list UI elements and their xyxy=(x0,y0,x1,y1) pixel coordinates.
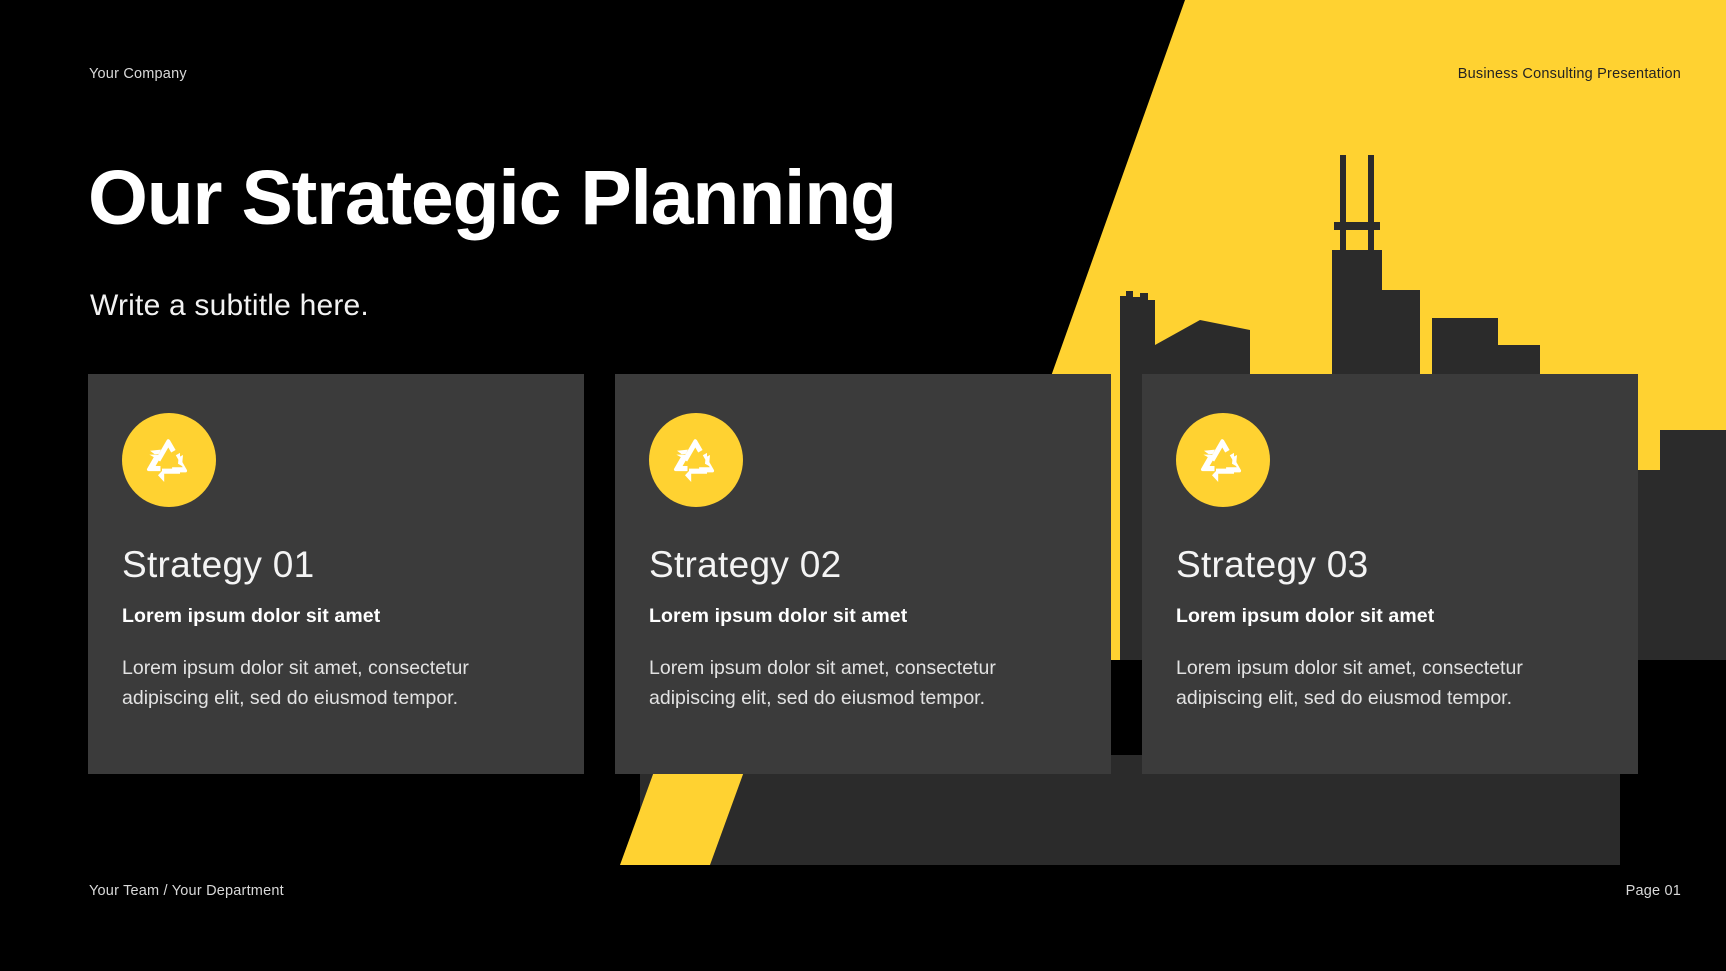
strategy-card-title: Strategy 01 xyxy=(122,546,550,583)
strategy-card-list: Strategy 01 Lorem ipsum dolor sit amet L… xyxy=(88,374,1638,774)
recycle-icon xyxy=(649,413,743,507)
strategy-card-body: Lorem ipsum dolor sit amet, consectetur … xyxy=(122,654,532,713)
strategy-card-body: Lorem ipsum dolor sit amet, consectetur … xyxy=(1176,654,1586,713)
recycle-icon xyxy=(1176,413,1270,507)
page-title: Our Strategic Planning xyxy=(88,158,896,239)
recycle-icon xyxy=(122,413,216,507)
strategy-card-title: Strategy 03 xyxy=(1176,546,1604,583)
footer-page-number: Page 01 xyxy=(1626,883,1681,899)
footer-team-label: Your Team / Your Department xyxy=(89,883,284,899)
strategy-card-subheading: Lorem ipsum dolor sit amet xyxy=(122,605,550,628)
presentation-slide: Your Company Business Consulting Present… xyxy=(0,0,1726,971)
strategy-card[interactable]: Strategy 03 Lorem ipsum dolor sit amet L… xyxy=(1142,374,1638,774)
strategy-card-body: Lorem ipsum dolor sit amet, consectetur … xyxy=(649,654,1059,713)
strategy-card[interactable]: Strategy 02 Lorem ipsum dolor sit amet L… xyxy=(615,374,1111,774)
strategy-card[interactable]: Strategy 01 Lorem ipsum dolor sit amet L… xyxy=(88,374,584,774)
strategy-card-subheading: Lorem ipsum dolor sit amet xyxy=(1176,605,1604,628)
header-company-label: Your Company xyxy=(89,66,187,82)
strategy-card-subheading: Lorem ipsum dolor sit amet xyxy=(649,605,1077,628)
header-presentation-label: Business Consulting Presentation xyxy=(1458,66,1681,82)
page-subtitle: Write a subtitle here. xyxy=(90,289,369,323)
strategy-card-title: Strategy 02 xyxy=(649,546,1077,583)
